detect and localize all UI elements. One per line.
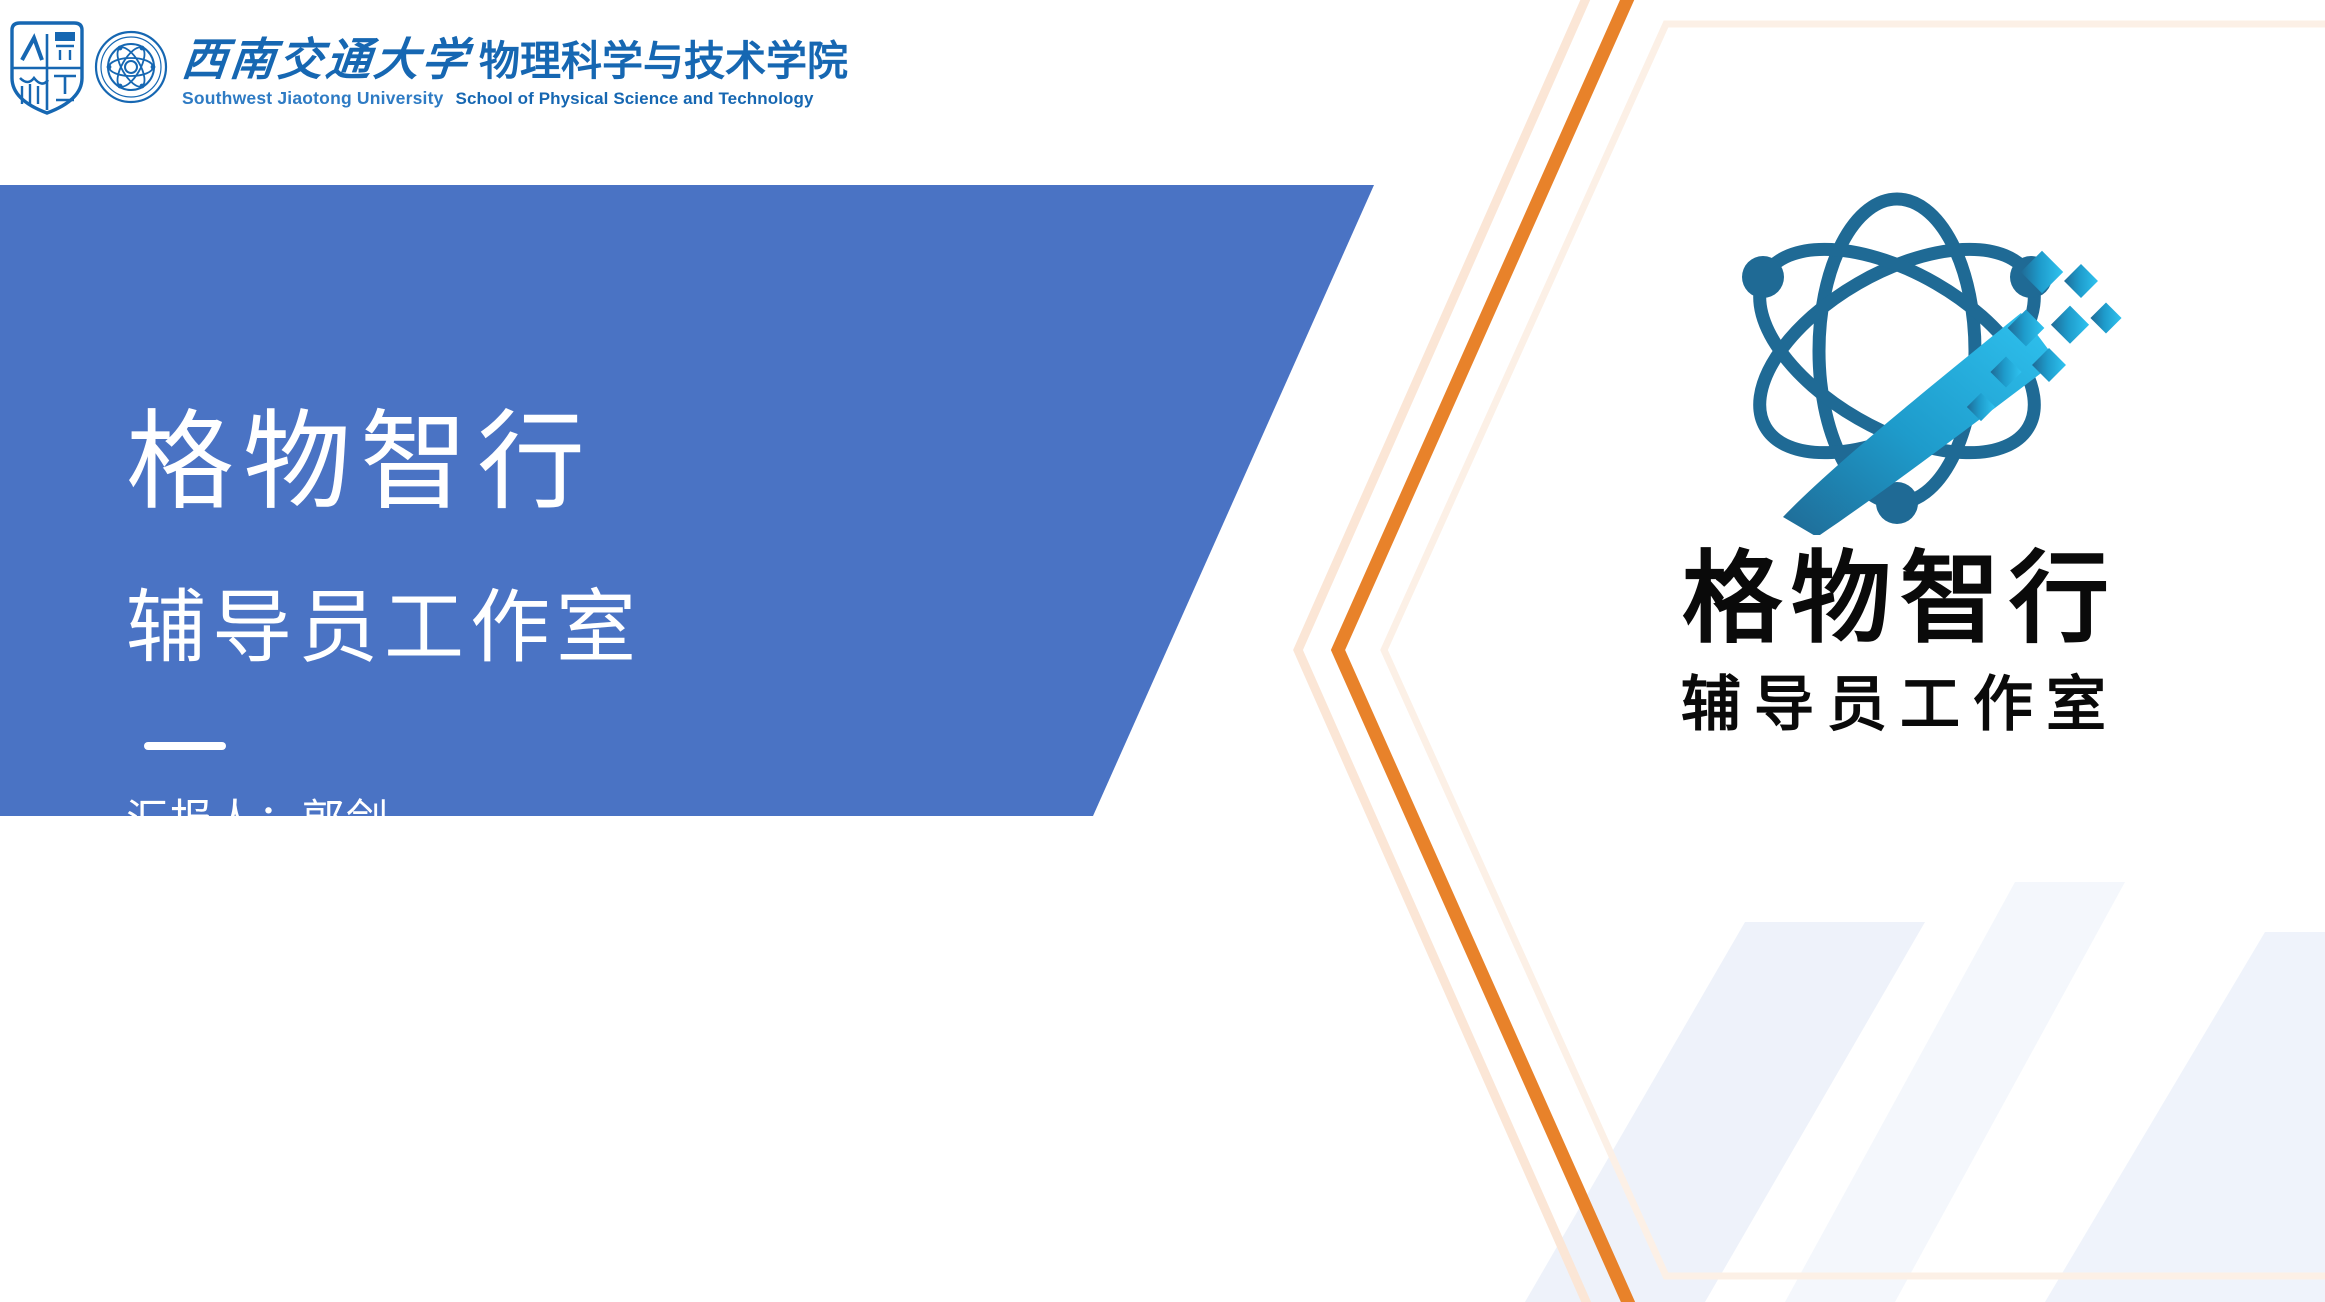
school-name-en: School of Physical Science and Technolog… — [456, 89, 814, 109]
presentation-slide: 西南交通大学 物理科学与技术学院 Southwest Jiaotong Univ… — [0, 0, 2325, 1302]
swjtu-shield-icon — [8, 20, 86, 116]
page-subtitle: 辅导员工作室 — [126, 586, 1026, 670]
svg-text:格物智行: 格物智行 — [1682, 543, 2118, 653]
atom-orbit-icon — [1665, 165, 2135, 535]
school-name-cn: 物理科学与技术学院 — [479, 41, 848, 82]
presenter-label: 汇报人：郭剑 — [126, 786, 1026, 847]
university-name-cn: 西南交通大学 — [180, 38, 473, 83]
wordmark-line1: 格物智行 — [1650, 541, 2150, 653]
svg-text:辅导员工作室: 辅导员工作室 — [1681, 671, 2119, 738]
background-decoration — [1225, 742, 2325, 1302]
university-name-en: Southwest Jiaotong University — [182, 88, 444, 109]
page-title: 格物智行 — [126, 405, 1026, 518]
title-group: 格物智行 辅导员工作室 汇报人：郭剑 — [126, 405, 1026, 847]
wordmark-line2: 辅导员工作室 — [1650, 669, 2150, 739]
slide-header: 西南交通大学 物理科学与技术学院 Southwest Jiaotong Univ… — [0, 0, 2325, 140]
physics-atom-seal-icon — [94, 30, 168, 104]
header-wordmark: 西南交通大学 物理科学与技术学院 Southwest Jiaotong Univ… — [182, 38, 848, 109]
workshop-logo: 格物智行 辅导员工作室 — [1620, 165, 2180, 739]
title-divider — [144, 742, 226, 750]
